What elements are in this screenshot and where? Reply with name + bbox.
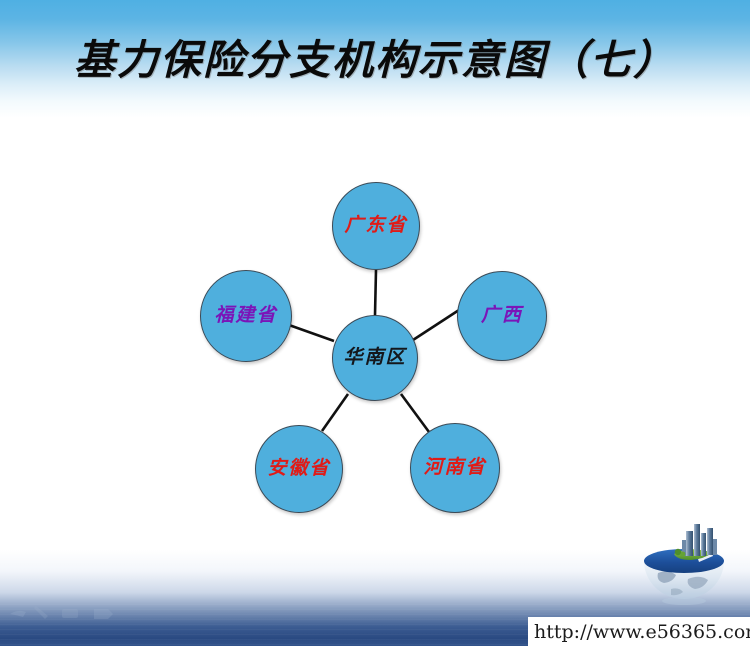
edge-center-to-anhui (322, 394, 348, 431)
diagram-node-label: 福建省 (214, 306, 277, 325)
diagram-node-guangxi[interactable]: 广西 (457, 271, 547, 361)
edge-center-to-henan (401, 394, 429, 432)
diagram-node-fujian[interactable]: 福建省 (200, 270, 292, 362)
diagram-node-label: 广东省 (344, 216, 407, 235)
earth-city-globe-icon (638, 521, 730, 607)
diagram-node-label: 安徽省 (267, 459, 330, 478)
watermark-url-text: http://www.e56365.com (534, 621, 750, 643)
edge-center-to-guangxi (413, 310, 459, 340)
diagram-node-henan[interactable]: 河南省 (410, 423, 500, 513)
edge-center-to-guangdong (375, 270, 376, 315)
watermark-url-plate: http://www.e56365.com (528, 617, 750, 646)
diagram-node-label: 华南区 (343, 348, 406, 367)
diagram-node-guangdong[interactable]: 广东省 (332, 182, 420, 270)
diagram-node-label: 河南省 (423, 458, 486, 477)
diagram-node-anhui[interactable]: 安徽省 (255, 425, 343, 513)
diagram-node-center-south-china-region[interactable]: 华南区 (332, 315, 418, 401)
edge-center-to-fujian (289, 325, 334, 341)
diagram-node-label: 广西 (481, 306, 523, 325)
slide-canvas: 基力保险分支机构示意图（七） 广东省 福建省 广西 华南区 安徽省 河南省 (0, 0, 750, 646)
